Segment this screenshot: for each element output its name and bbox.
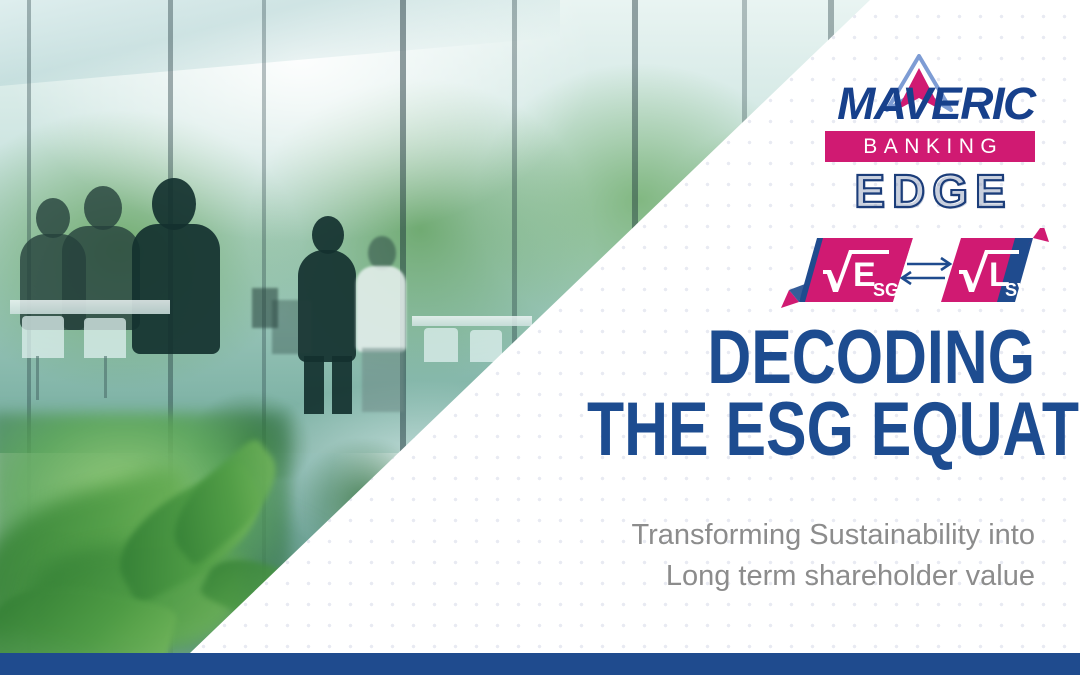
banking-label: BANKING bbox=[857, 135, 1004, 159]
edge-row: EDGE bbox=[825, 166, 1035, 216]
edge-label: EDGE bbox=[847, 164, 1012, 218]
photo-table bbox=[10, 300, 170, 314]
person-head bbox=[312, 216, 344, 254]
photo-chair bbox=[84, 318, 126, 358]
person-silhouette bbox=[272, 300, 312, 354]
page-subtitle: Transforming Sustainability into Long te… bbox=[475, 515, 1035, 597]
badge-right-arrowhead-icon bbox=[1033, 228, 1049, 242]
title-line-2: THE ESG EQUATION bbox=[587, 394, 1035, 466]
person-torso bbox=[356, 266, 406, 352]
title-line-1: DECODING bbox=[587, 322, 1035, 394]
svg-text:SV: SV bbox=[1005, 280, 1029, 300]
photo-chair-leg bbox=[36, 356, 39, 400]
person-head bbox=[84, 186, 122, 230]
svg-text:SG: SG bbox=[873, 280, 899, 300]
footer-bar bbox=[0, 653, 1080, 675]
person-head bbox=[36, 198, 70, 238]
banking-bar: BANKING bbox=[825, 131, 1035, 162]
slide-canvas: MAVERIC BANKING EDGE E SG bbox=[0, 0, 1080, 675]
person-torso bbox=[62, 226, 140, 330]
maveric-wordmark: MAVERIC bbox=[837, 81, 1035, 126]
person-head bbox=[152, 178, 196, 230]
subtitle-line-2: Long term shareholder value bbox=[475, 556, 1035, 597]
person-torso bbox=[132, 224, 220, 354]
photo-chair-leg bbox=[104, 356, 107, 398]
person-head bbox=[368, 236, 396, 270]
photo-chair bbox=[22, 316, 64, 358]
subtitle-line-1: Transforming Sustainability into bbox=[475, 515, 1035, 556]
maveric-banking-edge-logo[interactable]: MAVERIC BANKING EDGE bbox=[825, 78, 1035, 216]
maveric-wordmark-row: MAVERIC bbox=[825, 78, 1035, 126]
page-title: DECODING THE ESG EQUATION bbox=[475, 322, 1035, 466]
esg-lsv-equation-badge: E SG L SV bbox=[765, 228, 1050, 310]
photo-chair bbox=[424, 328, 458, 362]
